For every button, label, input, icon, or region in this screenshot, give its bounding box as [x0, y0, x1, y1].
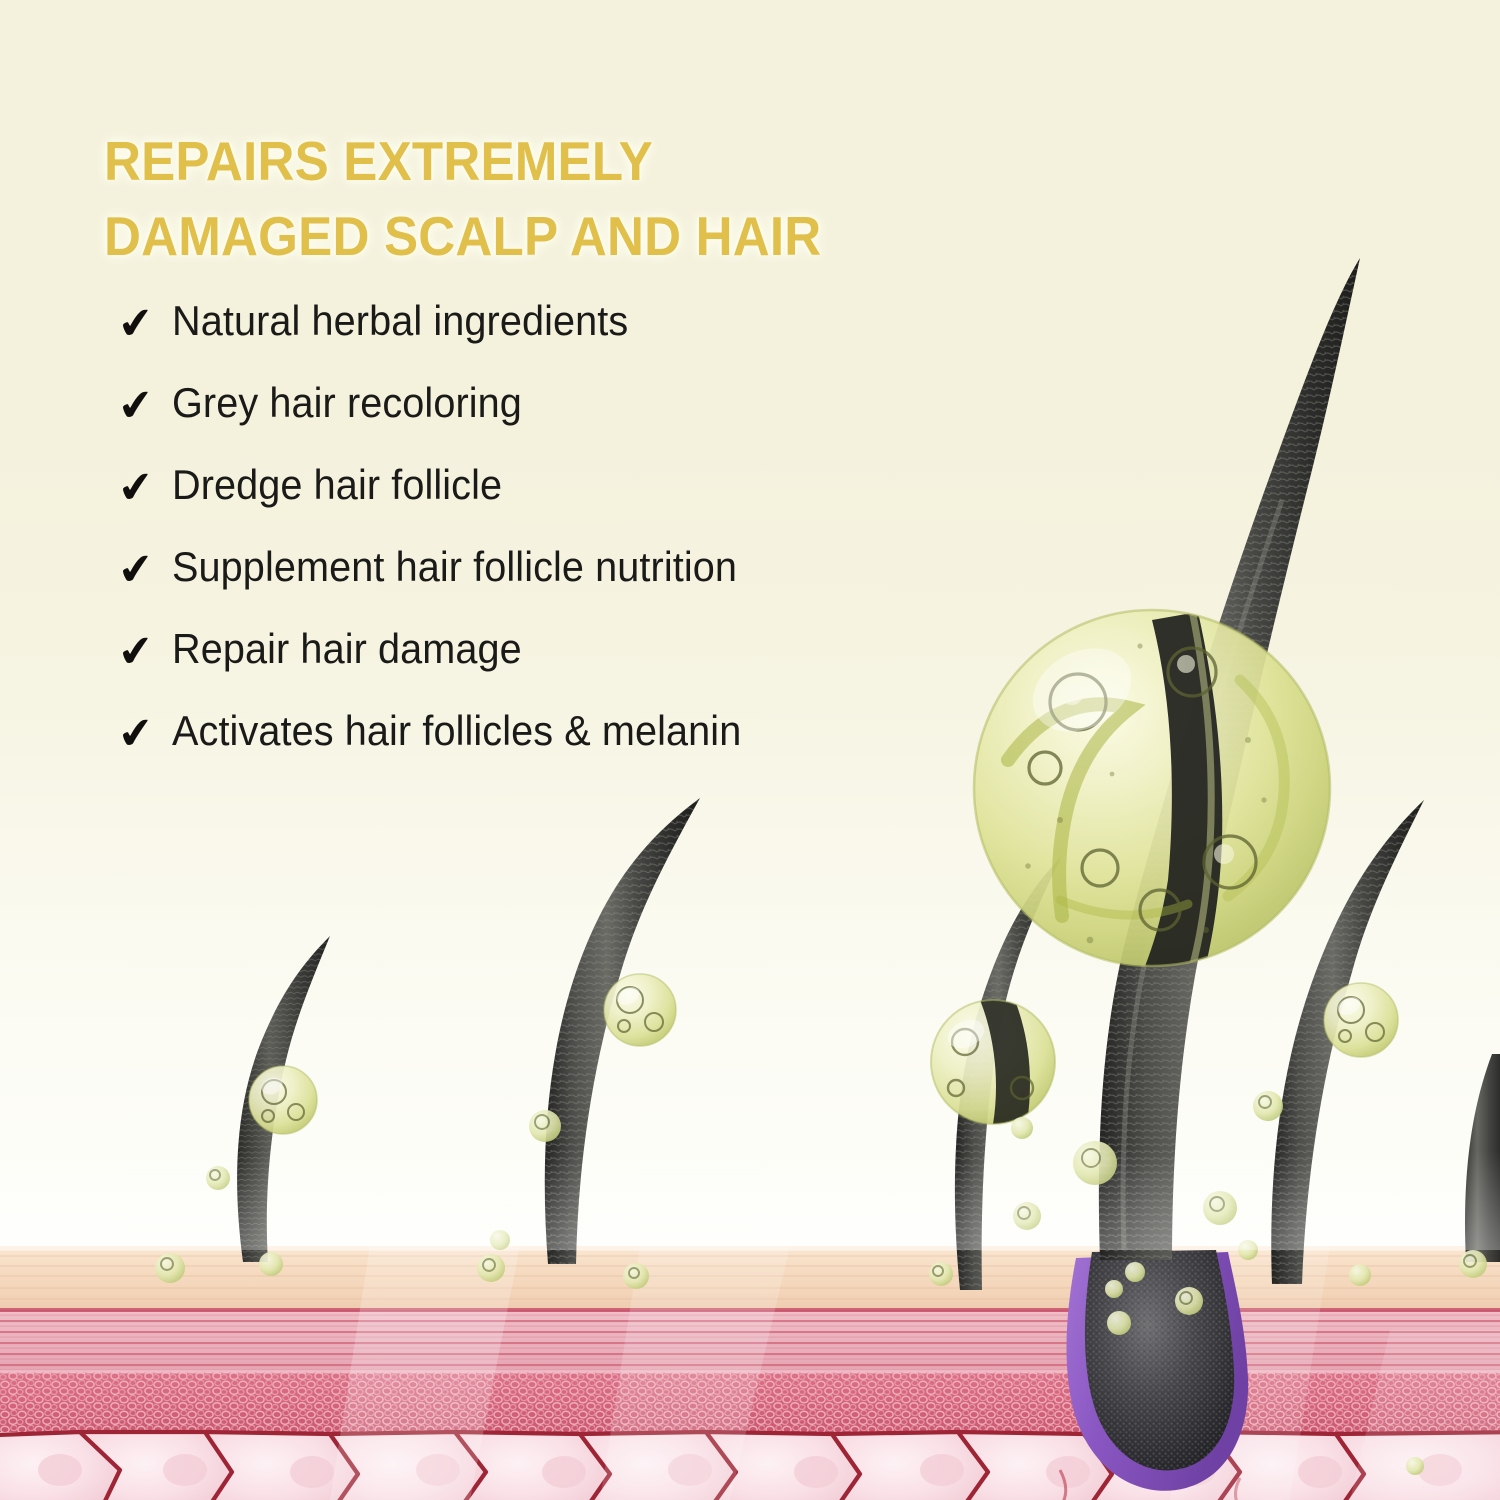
serum-droplet-mid — [604, 974, 676, 1046]
serum-droplet-large — [974, 610, 1330, 1000]
serum-droplet-small-left — [249, 1066, 317, 1134]
illustration-scene — [0, 0, 1500, 1500]
skin-cross-section — [0, 1246, 1500, 1500]
serum-droplet-medium-left — [931, 998, 1055, 1130]
product-feature-poster: REPAIRS EXTREMELY DAMAGED SCALP AND HAIR… — [0, 0, 1500, 1500]
serum-droplet-right — [1324, 983, 1398, 1057]
